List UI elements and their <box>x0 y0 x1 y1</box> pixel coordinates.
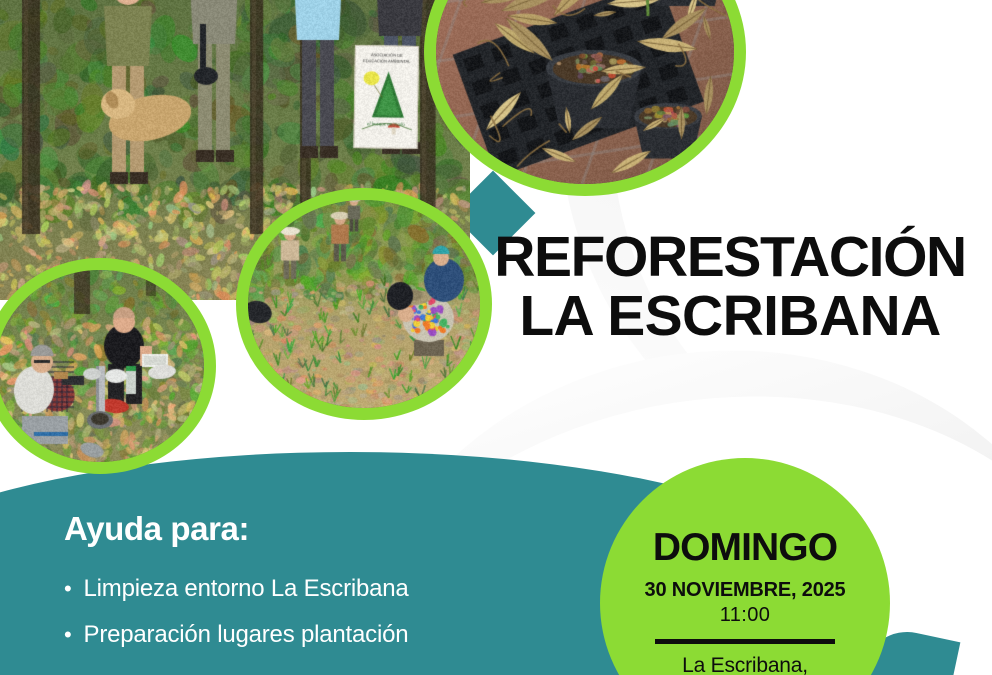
bullet-icon: • <box>64 578 72 600</box>
list-item: • Preparación lugares plantación <box>64 612 409 658</box>
title-line-2: LA ESCRIBANA <box>470 287 990 346</box>
help-heading: Ayuda para: <box>64 510 409 548</box>
date-place-label: La Escribana, <box>682 654 808 675</box>
help-section: Ayuda para: • Limpieza entorno La Escrib… <box>64 510 409 657</box>
poster-canvas: REFORESTACIÓN LA ESCRIBANA Ayuda para: •… <box>0 0 992 675</box>
bullet-icon: • <box>64 624 72 646</box>
title-line-1: REFORESTACIÓN <box>470 228 990 287</box>
page-title: REFORESTACIÓN LA ESCRIBANA <box>470 228 990 347</box>
date-time-label: 11:00 <box>720 604 771 627</box>
date-day-label: DOMINGO <box>653 528 837 567</box>
list-item-label: Limpieza entorno La Escribana <box>84 566 409 612</box>
photo-planting-hillside <box>236 188 492 420</box>
date-full-label: 30 NOVIEMBRE, 2025 <box>645 579 846 602</box>
list-item: • Limpieza entorno La Escribana <box>64 566 409 612</box>
list-item-label: Preparación lugares plantación <box>84 612 409 658</box>
help-list: • Limpieza entorno La Escribana • Prepar… <box>64 566 409 657</box>
date-divider <box>655 639 835 644</box>
photo-soil-sampling <box>0 258 216 474</box>
date-badge: DOMINGO 30 NOVIEMBRE, 2025 11:00 La Escr… <box>600 458 890 675</box>
